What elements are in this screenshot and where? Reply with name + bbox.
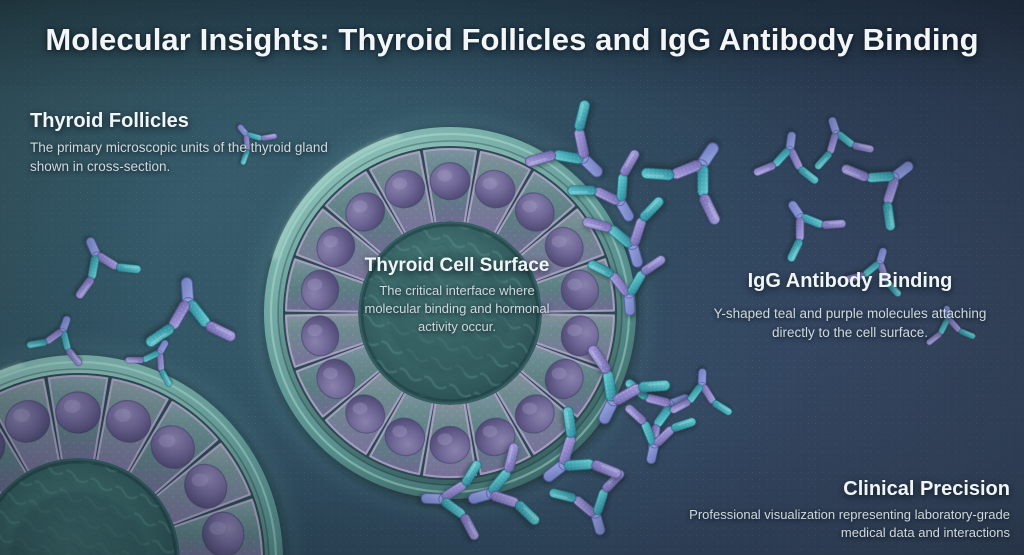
- callout-body: Professional visualization representing …: [660, 506, 1010, 543]
- callout-body: The primary microscopic units of the thy…: [30, 139, 330, 176]
- callout-igg-antibody-binding: IgG Antibody Binding Y-shaped teal and p…: [700, 270, 1000, 342]
- callout-thyroid-cell-surface: Thyroid Cell Surface The critical interf…: [350, 255, 564, 336]
- callout-thyroid-follicles: Thyroid Follicles The primary microscopi…: [30, 110, 330, 176]
- callout-body: Y-shaped teal and purple molecules attac…: [700, 305, 1000, 342]
- callout-clinical-precision: Clinical Precision Professional visualiz…: [660, 478, 1010, 543]
- callout-heading: Thyroid Follicles: [30, 110, 330, 133]
- callout-heading: IgG Antibody Binding: [700, 270, 1000, 293]
- page-title: Molecular Insights: Thyroid Follicles an…: [0, 22, 1024, 58]
- callout-heading: Clinical Precision: [660, 478, 1010, 501]
- callout-body: The critical interface where molecular b…: [350, 282, 564, 336]
- callout-heading: Thyroid Cell Surface: [350, 255, 564, 277]
- infographic-canvas: Molecular Insights: Thyroid Follicles an…: [0, 0, 1024, 555]
